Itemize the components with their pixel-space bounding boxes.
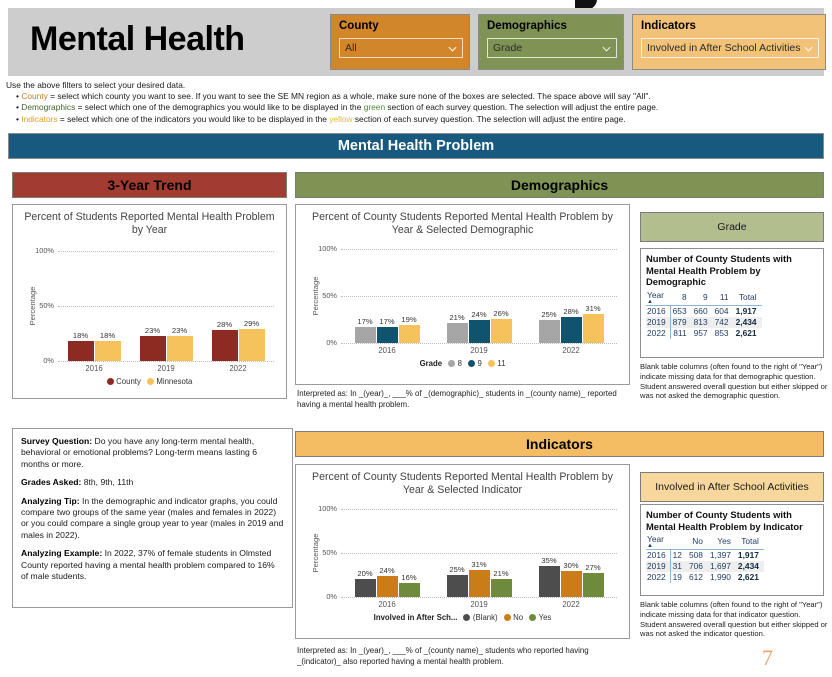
table-header-row: Year▲NoYesTotal: [646, 534, 764, 550]
column-header[interactable]: 8: [670, 290, 691, 306]
page-number-watermark: 7: [762, 645, 773, 671]
bar[interactable]: 24%: [469, 320, 490, 343]
chart-legend: CountyMinnesota: [13, 377, 286, 386]
bar-group: 35%30%27%: [525, 509, 617, 597]
gridline: [341, 343, 617, 344]
y-axis-tick: 50%: [24, 301, 54, 310]
table-cell: 31: [670, 561, 687, 572]
indicators-dropdown[interactable]: Involved in After School Activities: [641, 38, 819, 58]
legend-color-swatch: [107, 378, 114, 385]
legend-item-label: Minnesota: [156, 377, 192, 386]
x-axis-tick: 2016: [58, 364, 130, 373]
analyzing-tip-label: Analyzing Tip:: [21, 496, 80, 506]
column-header[interactable]: No: [687, 534, 708, 550]
bar-group: 18%18%: [58, 251, 130, 361]
legend-color-swatch: [504, 614, 511, 621]
bar[interactable]: 28%: [561, 317, 582, 343]
grades-asked: Grades Asked: 8th, 9th, 11th: [21, 477, 284, 495]
bar-value-label: 30%: [563, 561, 578, 570]
bar-value-label: 27%: [585, 563, 600, 572]
table-cell: 2022: [646, 572, 670, 583]
demographic-table-card: Number of County Students with Mental He…: [640, 248, 824, 358]
table-row[interactable]: 2016125081,3971,917: [646, 550, 764, 562]
y-axis-tick: 50%: [307, 291, 337, 300]
table-header-row: Year▲8911Total: [646, 290, 762, 306]
table-cell: 12: [670, 550, 687, 562]
bar[interactable]: 23%: [140, 336, 166, 361]
chart-legend: Involved in After Sch...(Blank)NoYes: [296, 613, 629, 622]
filter-card-demographics[interactable]: Demographics Grade: [478, 14, 624, 70]
legend-color-swatch: [488, 360, 495, 367]
table-cell: 813: [692, 317, 713, 328]
column-header[interactable]: 9: [692, 290, 713, 306]
bar-value-label: 26%: [493, 309, 508, 318]
column-header[interactable]: 11: [713, 290, 734, 306]
instructions-line-4: • Indicators = select which one of the i…: [6, 114, 826, 125]
x-axis-tick: 2016: [341, 600, 433, 609]
trend-chart-panel: Percent of Students Reported Mental Heal…: [12, 204, 287, 399]
table-cell: 2,621: [734, 328, 762, 339]
bar-group: 20%24%16%: [341, 509, 433, 597]
table-row[interactable]: 20228119578532,621: [646, 328, 762, 339]
table-cell: 2022: [646, 328, 670, 339]
bar-group: 25%31%21%: [433, 509, 525, 597]
legend-color-swatch: [463, 614, 470, 621]
bar-value-label: 28%: [217, 320, 232, 329]
legend-color-swatch: [448, 360, 455, 367]
legend-item-label: County: [116, 377, 141, 386]
x-axis-tick: 2019: [433, 600, 525, 609]
instructions-line-3-a: = select which one of the demographics y…: [75, 102, 363, 112]
filter-label-county: County: [339, 19, 463, 33]
x-axis-tick: 2022: [525, 346, 617, 355]
legend-item[interactable]: 8: [448, 359, 462, 368]
table-cell: 2016: [646, 550, 670, 562]
demographics-dropdown[interactable]: Grade: [487, 38, 617, 58]
table-cell: 706: [687, 561, 708, 572]
bar-group: 21%24%26%: [433, 249, 525, 343]
instructions-line-1: Use the above filters to select your des…: [6, 80, 826, 91]
trend-chart-title: Percent of Students Reported Mental Heal…: [13, 205, 286, 237]
demographic-table: Year▲8911Total20166536606041,91720198798…: [646, 290, 762, 339]
table-cell: 2019: [646, 561, 670, 572]
y-axis-tick: 50%: [307, 548, 337, 557]
bar[interactable]: 17%: [355, 327, 376, 343]
bar[interactable]: 18%: [95, 341, 121, 361]
legend-item[interactable]: 11: [488, 359, 506, 368]
table-cell: 2016: [646, 305, 670, 317]
chevron-down-icon: [601, 43, 612, 54]
instructions-key-county: County: [21, 91, 48, 101]
table-cell: 1,397: [708, 550, 736, 562]
indicator-table-title: Number of County Students with Mental He…: [646, 509, 818, 532]
table-cell: 1,917: [734, 305, 762, 317]
bar[interactable]: 31%: [583, 314, 604, 343]
indicators-chart-panel: Percent of County Students Reported Ment…: [295, 464, 630, 639]
bar-value-label: 17%: [379, 317, 394, 326]
bar[interactable]: 25%: [539, 320, 560, 344]
county-dropdown-value: All: [345, 42, 447, 54]
grades-asked-text: 8th, 9th, 11th: [81, 477, 133, 487]
dashboard-page: Mental Health County All Demographics Gr…: [0, 0, 832, 677]
bar-value-label: 23%: [145, 326, 160, 335]
legend-item[interactable]: (Blank): [463, 613, 497, 622]
legend-color-swatch: [147, 378, 154, 385]
bar[interactable]: 26%: [491, 319, 512, 343]
bar-group: 17%17%19%: [341, 249, 433, 343]
survey-question-label: Survey Question:: [21, 436, 92, 446]
bar[interactable]: 25%: [447, 575, 468, 597]
x-axis-tick: 2016: [341, 346, 433, 355]
legend-color-swatch: [468, 360, 475, 367]
instructions-word-yellow: yellow: [329, 114, 352, 124]
bar[interactable]: 24%: [377, 576, 398, 597]
bar-value-label: 21%: [493, 569, 508, 578]
bar[interactable]: 17%: [377, 327, 398, 343]
table-cell: 2019: [646, 317, 670, 328]
bar[interactable]: 23%: [167, 336, 193, 361]
y-axis-tick: 100%: [307, 244, 337, 253]
bar-group: 25%28%31%: [525, 249, 617, 343]
bar[interactable]: 27%: [583, 573, 604, 597]
legend-title: Grade: [420, 359, 443, 368]
column-header[interactable]: Total: [736, 534, 764, 550]
legend-item[interactable]: Minnesota: [147, 377, 192, 386]
y-axis-tick: 100%: [307, 504, 337, 513]
legend-item[interactable]: 9: [468, 359, 482, 368]
instructions-key-indicators: Indicators: [21, 114, 57, 124]
legend-item-label: Yes: [539, 613, 552, 622]
y-axis-tick: 0%: [307, 338, 337, 347]
indicator-selection-pill: Involved in After School Activities: [640, 472, 824, 502]
bar-value-label: 16%: [401, 573, 416, 582]
table-cell: 811: [670, 328, 691, 339]
table-cell: 604: [713, 305, 734, 317]
table-row[interactable]: 20198798137422,434: [646, 317, 762, 328]
bar[interactable]: 21%: [447, 323, 468, 343]
bar-value-label: 18%: [73, 331, 88, 340]
table-cell: 853: [713, 328, 734, 339]
filter-card-indicators[interactable]: Indicators Involved in After School Acti…: [632, 14, 826, 70]
table-cell: 957: [692, 328, 713, 339]
bar-value-label: 25%: [449, 565, 464, 574]
demographic-table-title: Number of County Students with Mental He…: [646, 253, 818, 288]
indicators-interpretation: Interpreted as: In _(year)_, ___% of _(c…: [297, 645, 629, 667]
instructions-line-2-text: = select which county you want to see. I…: [48, 91, 651, 101]
table-cell: 742: [713, 317, 734, 328]
bar-value-label: 20%: [357, 569, 372, 578]
instructions-line-4-a: = select which one of the indicators you…: [58, 114, 330, 124]
demographics-chart-title: Percent of County Students Reported Ment…: [296, 205, 629, 237]
x-axis-tick: 2022: [202, 364, 274, 373]
trend-chart-plot: Percentage0%50%100%18%18%201623%23%20192…: [13, 241, 286, 401]
bar[interactable]: 35%: [539, 566, 560, 597]
y-axis-tick: 0%: [307, 592, 337, 601]
y-axis-tick: 100%: [24, 246, 54, 255]
grades-asked-label: Grades Asked:: [21, 477, 81, 487]
table-cell: 2,434: [736, 561, 764, 572]
table-cell: 508: [687, 550, 708, 562]
legend-item[interactable]: County: [107, 377, 141, 386]
indicator-table-note: Blank table columns (often found to the …: [640, 600, 828, 639]
demographic-table-note: Blank table columns (often found to the …: [640, 362, 828, 401]
instructions-line-3-b: section of each survey question. The sel…: [385, 102, 658, 112]
indicators-chart-plot: Percentage0%50%100%20%24%16%201625%31%21…: [296, 501, 629, 635]
bar[interactable]: 29%: [239, 329, 265, 361]
table-cell: 612: [687, 572, 708, 583]
table-cell: 19: [670, 572, 687, 583]
bar[interactable]: 19%: [399, 325, 420, 343]
instructions-line-2: • County = select which county you want …: [6, 91, 826, 102]
bar-value-label: 24%: [379, 566, 394, 575]
bar[interactable]: 31%: [469, 570, 490, 597]
section-header-demographics: Demographics: [295, 172, 824, 198]
gridline: [341, 597, 617, 598]
instructions-word-green: green: [364, 102, 385, 112]
sort-ascending-icon[interactable]: ▲: [647, 300, 665, 304]
section-header-trend: 3-Year Trend: [12, 172, 287, 198]
demographics-chart-panel: Percent of County Students Reported Ment…: [295, 204, 630, 385]
column-header[interactable]: Year▲: [646, 534, 670, 550]
indicator-table-card: Number of County Students with Mental He…: [640, 504, 824, 596]
bar[interactable]: 28%: [212, 330, 238, 361]
column-header[interactable]: Total: [734, 290, 762, 306]
bar-value-label: 19%: [401, 315, 416, 324]
analyzing-example: Analyzing Example: In 2022, 37% of femal…: [21, 548, 284, 589]
legend-item-label: 11: [497, 359, 505, 368]
legend-item-label: No: [513, 613, 523, 622]
table-cell: 2,434: [734, 317, 762, 328]
survey-info-panel: Survey Question: Do you have any long-te…: [12, 428, 293, 608]
instructions-key-demographics: Demographics: [21, 102, 75, 112]
filter-bar: Mental Health County All Demographics Gr…: [8, 8, 824, 76]
bar-value-label: 31%: [585, 304, 600, 313]
indicators-chart-title: Percent of County Students Reported Ment…: [296, 465, 629, 497]
table-cell: 653: [670, 305, 691, 317]
x-axis-tick: 2019: [130, 364, 202, 373]
sort-ascending-icon[interactable]: ▲: [647, 544, 665, 548]
survey-question: Survey Question: Do you have any long-te…: [21, 436, 284, 477]
chart-legend: Grade8911: [296, 359, 629, 368]
table-cell: 1,697: [708, 561, 736, 572]
bar[interactable]: 21%: [491, 579, 512, 597]
filter-label-demographics: Demographics: [487, 19, 617, 33]
bar-value-label: 24%: [471, 310, 486, 319]
section-banner: Mental Health Problem: [8, 133, 824, 159]
table-cell: 660: [692, 305, 713, 317]
legend-item-label: (Blank): [473, 613, 498, 622]
bar[interactable]: 16%: [399, 583, 420, 597]
instructions-line-4-b: section of each survey question. The sel…: [353, 114, 626, 124]
y-axis-tick: 0%: [24, 356, 54, 365]
bar[interactable]: 20%: [355, 579, 376, 597]
demographics-chart-plot: Percentage0%50%100%17%17%19%201621%24%26…: [296, 241, 629, 381]
chevron-down-icon: [447, 43, 458, 54]
column-header[interactable]: Year▲: [646, 290, 670, 306]
legend-color-swatch: [529, 614, 536, 621]
bar[interactable]: 18%: [68, 341, 94, 361]
bar-value-label: 31%: [471, 560, 486, 569]
table-cell: 1,917: [736, 550, 764, 562]
demographics-dropdown-value: Grade: [493, 42, 601, 54]
page-title: Mental Health: [30, 20, 245, 59]
filter-card-county[interactable]: County All: [330, 14, 470, 70]
section-header-indicators: Indicators: [295, 431, 824, 457]
legend-item-label: 9: [477, 359, 481, 368]
demographic-selection-pill: Grade: [640, 212, 824, 242]
column-header[interactable]: Yes: [708, 534, 736, 550]
bar-value-label: 35%: [541, 556, 556, 565]
table-cell: 879: [670, 317, 691, 328]
demographics-interpretation: Interpreted as: In _(year)_, ___% of _(d…: [297, 388, 629, 410]
bar[interactable]: 30%: [561, 571, 582, 597]
analyzing-example-label: Analyzing Example:: [21, 548, 102, 558]
column-header[interactable]: [670, 534, 687, 550]
x-axis-tick: 2022: [525, 600, 617, 609]
bar-value-label: 28%: [563, 307, 578, 316]
bar-value-label: 18%: [100, 331, 115, 340]
legend-title: Involved in After Sch...: [374, 613, 458, 622]
legend-item-label: 8: [458, 359, 462, 368]
filter-label-indicators: Indicators: [641, 19, 819, 33]
table-row[interactable]: 2019317061,6972,434: [646, 561, 764, 572]
indicators-dropdown-value: Involved in After School Activities: [647, 42, 803, 54]
analyzing-tip: Analyzing Tip: In the demographic and in…: [21, 496, 284, 549]
bar-group: 23%23%: [130, 251, 202, 361]
column-header-label: Year: [647, 290, 664, 300]
county-dropdown[interactable]: All: [339, 38, 463, 58]
chevron-down-icon: [803, 43, 814, 54]
instructions-block: Use the above filters to select your des…: [6, 80, 826, 125]
table-cell: 2,621: [736, 572, 764, 583]
table-cell: 1,990: [708, 572, 736, 583]
table-row[interactable]: 20166536606041,917: [646, 305, 762, 317]
legend-item[interactable]: No: [504, 613, 523, 622]
bar-value-label: 21%: [449, 313, 464, 322]
table-row[interactable]: 2022196121,9902,621: [646, 572, 764, 583]
bar-value-label: 25%: [541, 310, 556, 319]
bar-value-label: 23%: [172, 326, 187, 335]
bar-group: 28%29%: [202, 251, 274, 361]
bar-value-label: 29%: [244, 319, 259, 328]
bar-value-label: 17%: [357, 317, 372, 326]
instructions-line-3: • Demographics = select which one of the…: [6, 102, 826, 113]
gridline: [58, 361, 274, 362]
x-axis-tick: 2019: [433, 346, 525, 355]
legend-item[interactable]: Yes: [529, 613, 551, 622]
indicator-table: Year▲NoYesTotal2016125081,3971,917201931…: [646, 534, 764, 583]
